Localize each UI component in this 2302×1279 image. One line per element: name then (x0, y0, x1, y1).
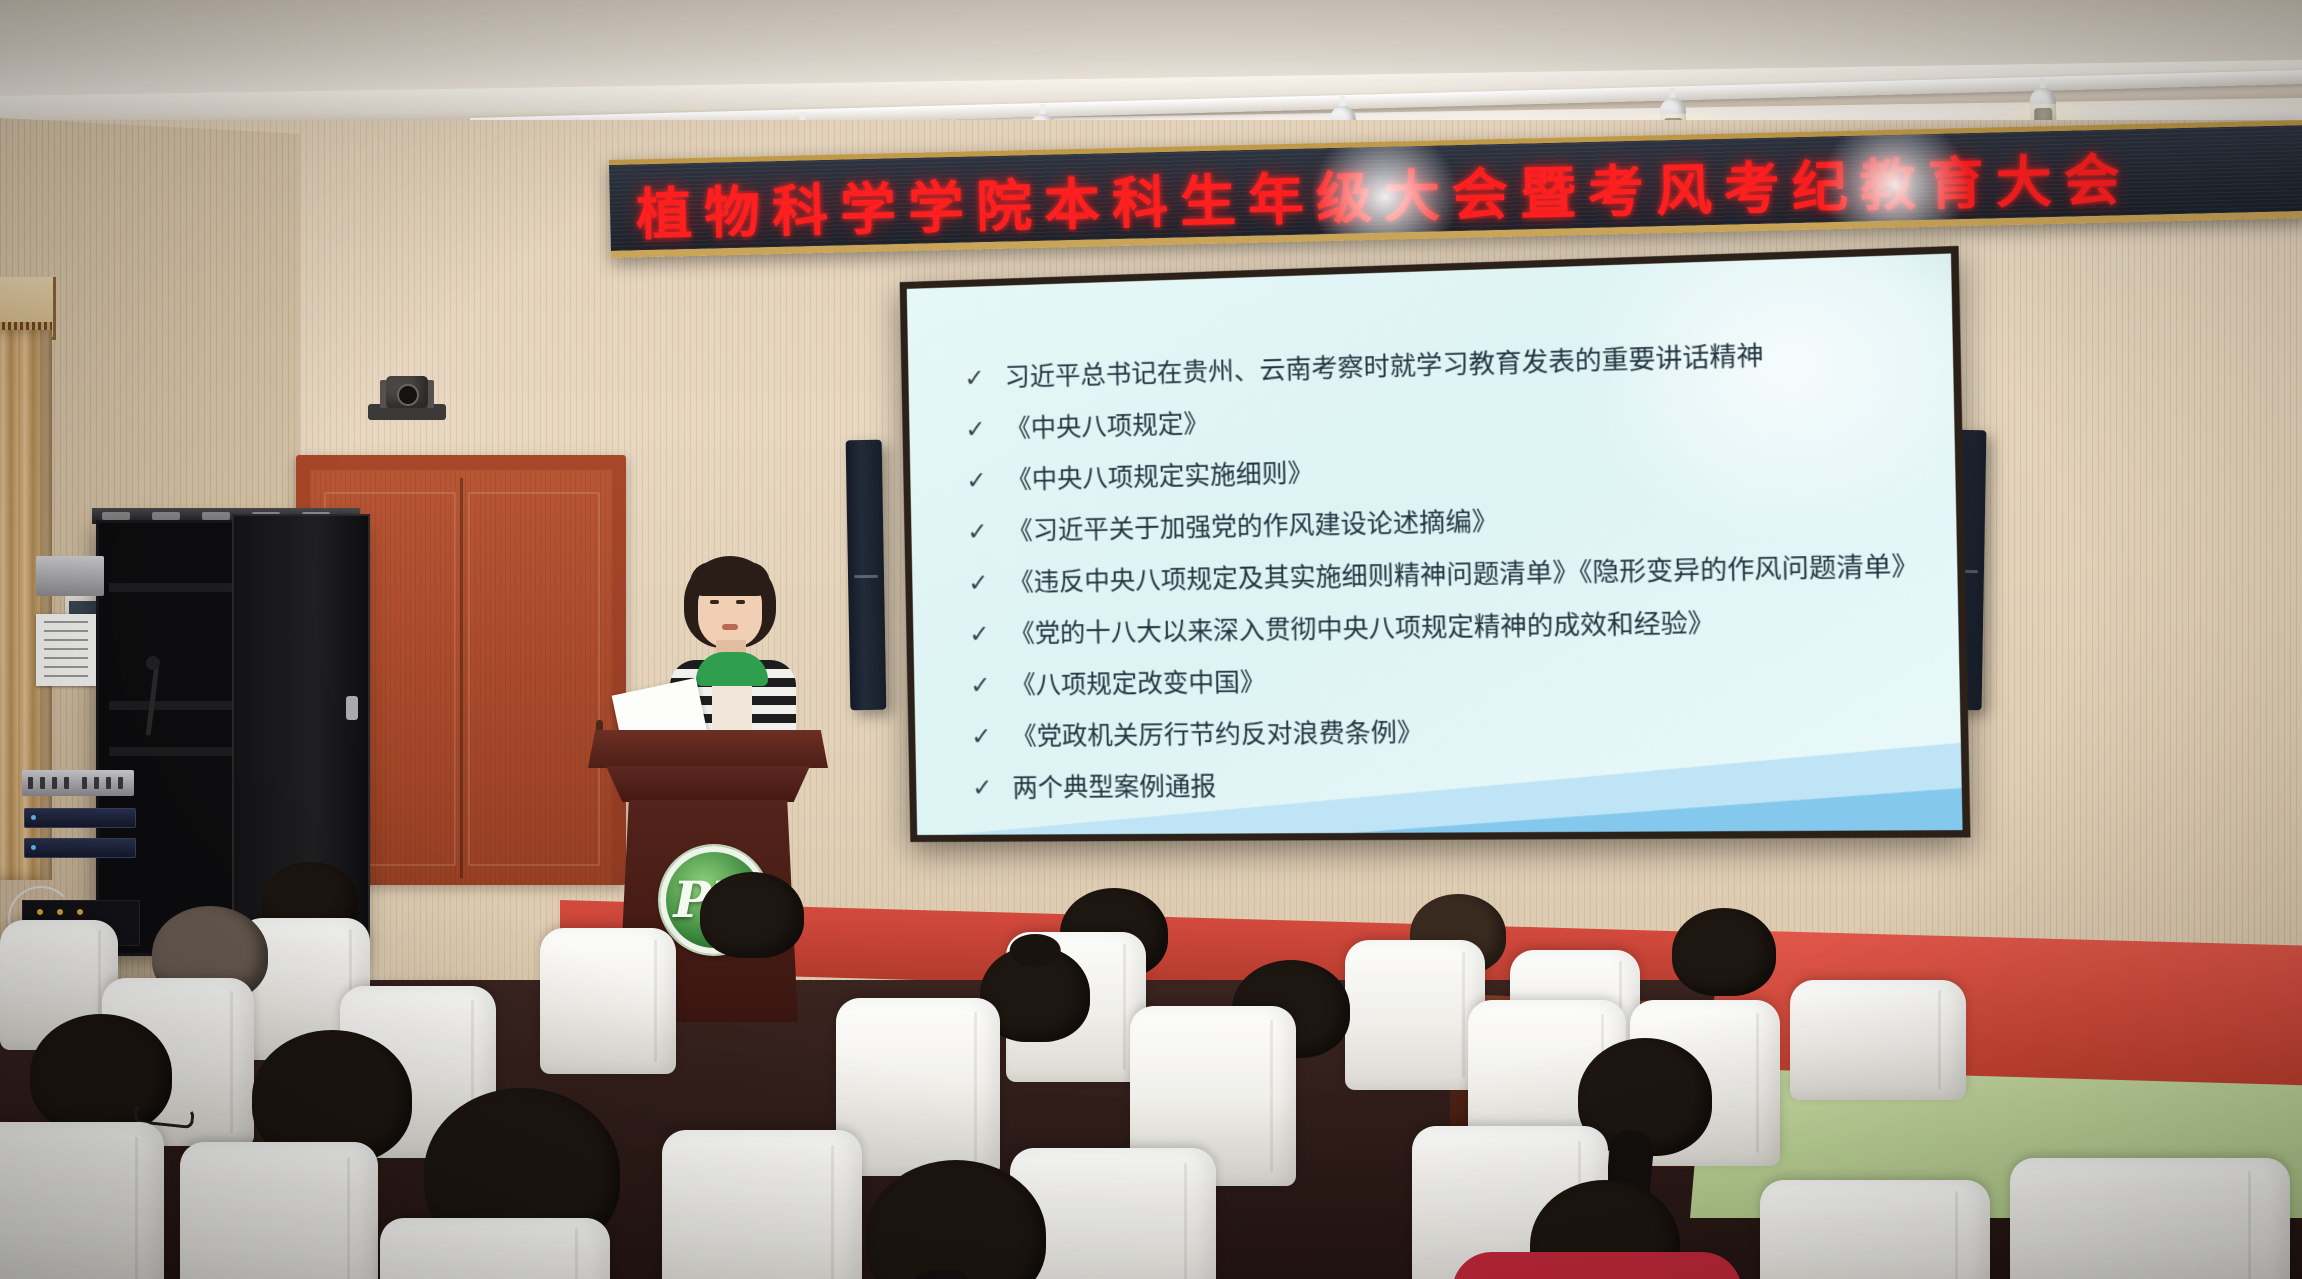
slide-bullet-list: ✓ 习近平总书记在贵州、云南考察时就学习教育发表的重要讲话精神 ✓ 《中央八项规… (964, 337, 1933, 826)
slide-bullet-item: ✓ 《八项规定改变中国》 (970, 659, 1931, 700)
check-icon: ✓ (971, 723, 992, 750)
audience-chair (540, 928, 676, 1074)
microphone-capsule-icon (146, 656, 160, 670)
slide-bullet-text: 《习近平关于加强党的作风建设论述摘编》 (1007, 507, 1498, 546)
lecture-hall-photo: 植物科学学院本科生年级大会暨考风考纪教育大会 ✓ 习近平总书记在贵州、云南考察时… (0, 0, 2302, 1279)
audience-chair (1790, 980, 1966, 1100)
slide-bullet-item: ✓ 《党政机关厉行节约反对浪费条例》 (971, 713, 1932, 751)
audience-chair (0, 1122, 164, 1279)
slide-bullet-text: 习近平总书记在贵州、云南考察时就学习教育发表的重要讲话精神 (1004, 341, 1764, 392)
audience-chair (380, 1218, 610, 1279)
slide-bullet-text: 《党政机关厉行节约反对浪费条例》 (1011, 719, 1423, 752)
slide-bullet-item: ✓ 《中央八项规定实施细则》 (966, 444, 1926, 495)
check-icon: ✓ (969, 621, 990, 648)
audience-head (700, 872, 804, 958)
column-loudspeaker (846, 440, 887, 711)
audience-chair (1345, 940, 1485, 1090)
rack-amplifier (36, 556, 104, 596)
check-icon: ✓ (967, 518, 988, 545)
slide-bullet-text: 《党的十八大以来深入贯彻中央八项规定精神的成效和经验》 (1009, 609, 1715, 648)
projector-screen: ✓ 习近平总书记在贵州、云南考察时就学习教育发表的重要讲话精神 ✓ 《中央八项规… (907, 253, 1963, 834)
audience-chair (180, 1142, 378, 1279)
slide-bullet-text: 《中央八项规定实施细则》 (1006, 459, 1313, 495)
check-icon: ✓ (965, 416, 986, 443)
slide-bullet-item: ✓ 《违反中央八项规定及其实施细则精神问题清单》《隐形变异的作风问题清单》 (968, 552, 1929, 598)
audience-chair (1760, 1180, 1990, 1279)
slide-bullet-item: ✓ 《党的十八大以来深入贯彻中央八项规定精神的成效和经验》 (969, 606, 1930, 650)
slide-bullet-item: ✓ 《中央八项规定》 (965, 390, 1925, 444)
window-curtain (0, 330, 52, 880)
check-icon: ✓ (968, 569, 989, 596)
ptz-camera-icon (368, 370, 446, 426)
slide-bullet-item: ✓ 《习近平关于加强党的作风建设论述摘编》 (967, 498, 1927, 547)
slide-bullet-item: ✓ 两个典型案例通报 (972, 767, 1933, 803)
check-icon: ✓ (972, 774, 993, 801)
slide-bullet-text: 《中央八项规定》 (1005, 410, 1209, 444)
check-icon: ✓ (966, 467, 987, 494)
presenter-person (660, 556, 820, 756)
rack-lock-icon[interactable] (346, 696, 358, 720)
check-icon: ✓ (964, 365, 985, 392)
slide-bullet-text: 《违反中央八项规定及其实施细则精神问题清单》《隐形变异的作风问题清单》 (1008, 552, 1919, 597)
projector-screen-frame: ✓ 习近平总书记在贵州、云南考察时就学习教育发表的重要讲话精神 ✓ 《中央八项规… (900, 246, 1971, 842)
audience-chair (662, 1130, 862, 1279)
audience-chair (2010, 1158, 2290, 1279)
rack-processor-unit (24, 808, 136, 828)
slide-bullet-text: 《八项规定改变中国》 (1010, 668, 1266, 700)
check-icon: ✓ (970, 672, 991, 699)
rack-processor-unit (24, 838, 136, 858)
audience-shoulders (1452, 1252, 1742, 1279)
slide-bullet-text: 两个典型案例通报 (1012, 773, 1216, 803)
audience-head (1672, 908, 1776, 996)
rack-notice-paper (36, 614, 96, 686)
audio-mixer[interactable] (22, 770, 134, 796)
slide-bullet-item: ✓ 习近平总书记在贵州、云南考察时就学习教育发表的重要讲话精神 (964, 337, 1924, 394)
